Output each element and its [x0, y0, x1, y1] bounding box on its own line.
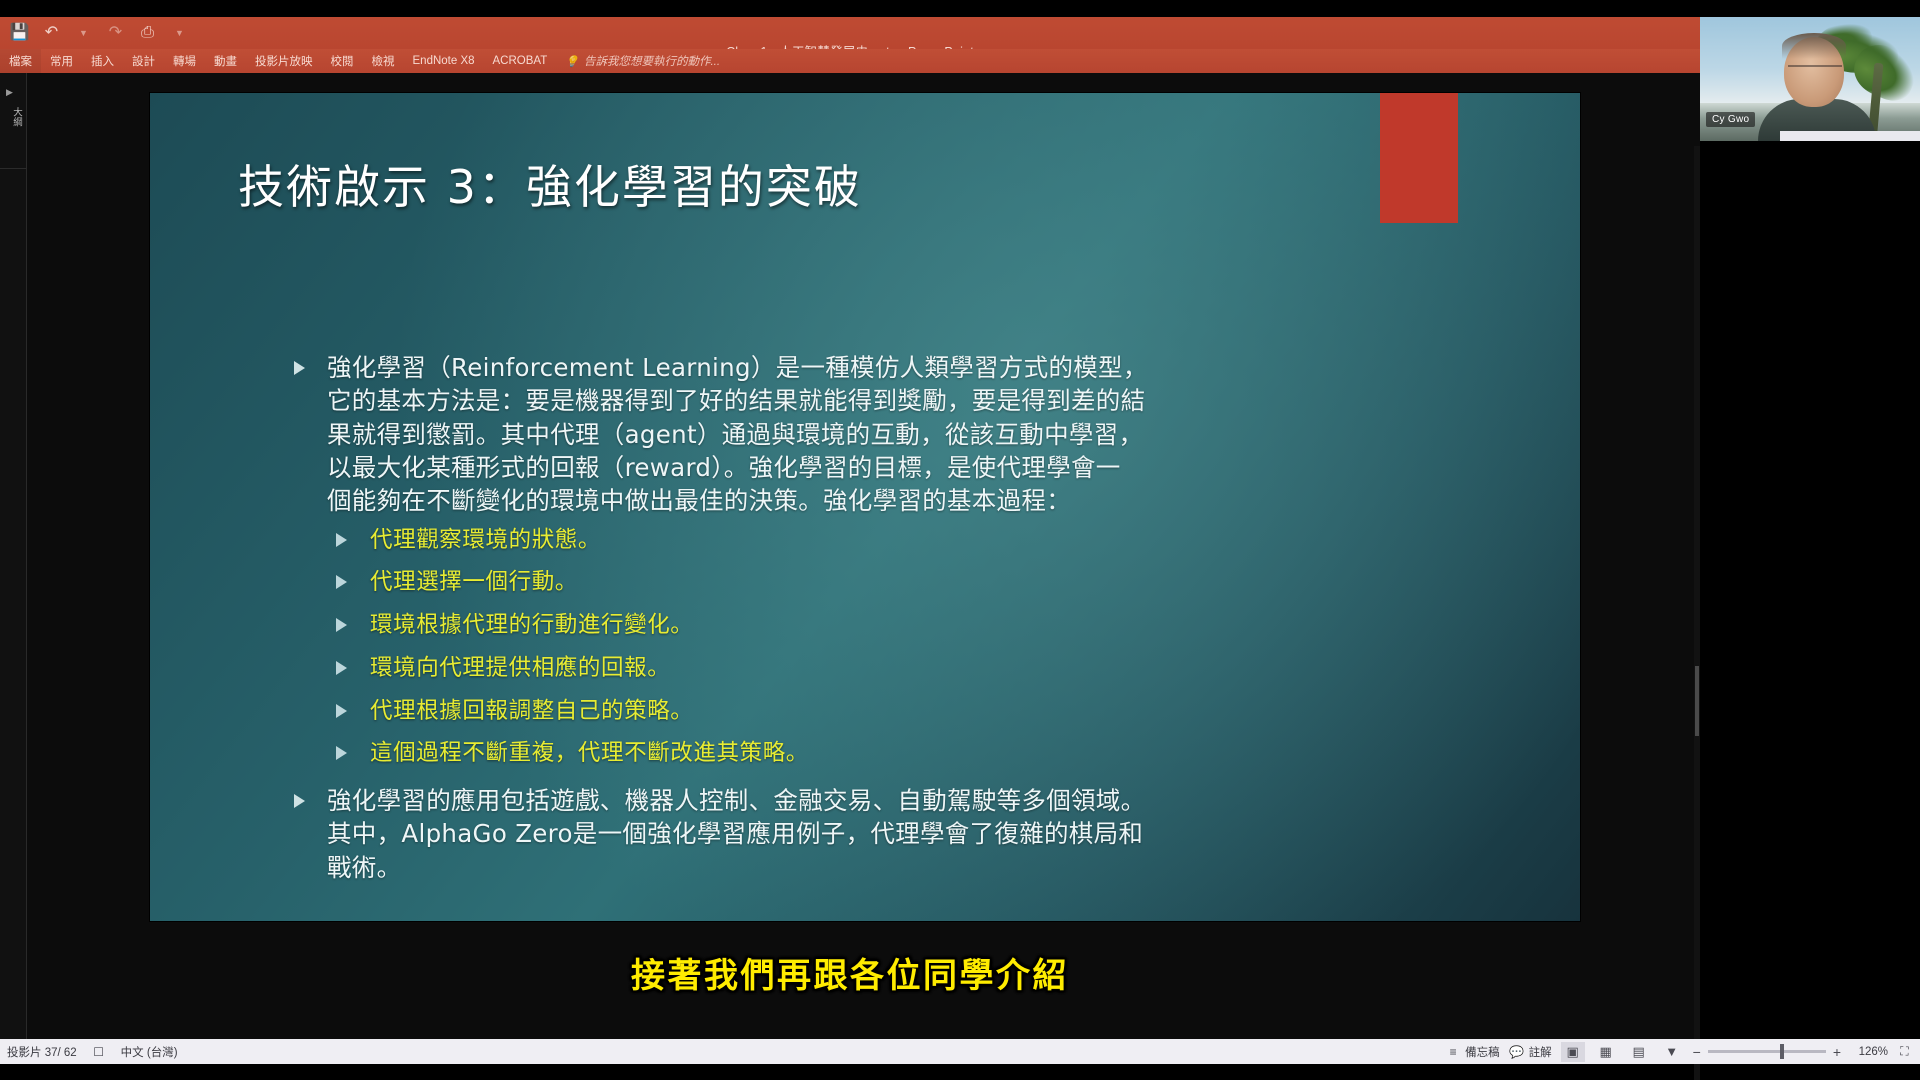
lightbulb-icon: 💡 [565, 55, 579, 68]
slide-counter[interactable]: 投影片 37/ 62 [7, 1044, 77, 1060]
sub-bullet-label: 代理觀察環境的狀態。 [370, 527, 601, 553]
comment-icon: 💬 [1509, 1044, 1525, 1059]
status-bar-right: ≡ 備忘稿 💬 註解 ▣ ▦ ▤ ▼ − [1445, 1042, 1920, 1062]
participant-name-badge: Cy Gwo [1706, 112, 1755, 127]
slide-sorter-icon: ▦ [1599, 1044, 1611, 1060]
sub-bullet-label: 這個過程不斷重複，代理不斷改進其策略。 [370, 740, 809, 766]
bullet-triangle-icon [336, 618, 347, 632]
tell-me-label: 告訴我您想要執行的動作... [584, 53, 720, 69]
start-slideshow-icon[interactable]: ⎙ [138, 24, 157, 43]
tab-slideshow[interactable]: 投影片放映 [246, 49, 322, 73]
bullet-level1: 強化學習的應用包括遊戲、機器人控制、金融交易、自動駕駛等多個領域。 其中，Alp… [290, 784, 1450, 884]
status-bar-left: 投影片 37/ 62 ☐ 中文 (台灣) [0, 1044, 178, 1060]
chevron-right-icon[interactable]: ▶ [6, 87, 13, 98]
quick-access-toolbar[interactable]: 💾 ↶ ▼ ↷ ⎙ ▼ [10, 18, 189, 48]
tab-transitions[interactable]: 轉場 [164, 49, 205, 73]
outline-pane-label: 大綱 [5, 107, 21, 127]
accessibility-check-icon[interactable]: ☐ [91, 1044, 107, 1059]
zoom-in-button[interactable]: + [1833, 1045, 1841, 1059]
sub-bullet-label: 環境向代理提供相應的回報。 [370, 655, 670, 681]
bullet-line: 它的基本方法是：要是機器得到了好的结果就能得到獎勵，要是得到差的結 [327, 384, 1450, 417]
redo-icon[interactable]: ↷ [106, 24, 125, 43]
sub-bullet-item: 環境向代理提供相應的回報。 [334, 656, 1450, 681]
view-slide-sorter[interactable]: ▦ [1594, 1042, 1618, 1062]
undo-dropdown-icon[interactable]: ▼ [74, 24, 93, 43]
screen-letterbox-right [1700, 141, 1920, 1039]
bullet-line: 以最大化某種形式的回報（reward）。強化學習的目標，是使代理學會一 [327, 451, 1450, 484]
sub-bullet-item: 代理根據回報調整自己的策略。 [334, 699, 1450, 724]
screen-letterbox-bottom [0, 1064, 1920, 1080]
tab-review[interactable]: 校閱 [322, 49, 363, 73]
bullet-line: 果就得到懲罰。其中代理（agent）通過與環境的互動，從該互動中學習， [327, 418, 1450, 451]
status-bar: 投影片 37/ 62 ☐ 中文 (台灣) ≡ 備忘稿 💬 註解 ▣ ▦ ▤ [0, 1039, 1920, 1064]
title-bar: Chap 1 - 人工智慧發展史.pptx - PowerPoint [0, 17, 1700, 49]
reading-view-icon: ▤ [1632, 1044, 1644, 1060]
scrollbar-thumb[interactable] [1695, 666, 1699, 736]
save-icon[interactable]: 💾 [10, 24, 29, 43]
slide-accent-bar [1380, 93, 1458, 223]
customize-qat-icon[interactable]: ▼ [170, 24, 189, 43]
tab-design[interactable]: 設計 [123, 49, 164, 73]
bullet-triangle-icon [336, 704, 347, 718]
editing-workspace: ▶ 大綱 技術啟示 3：強化學習的突破 強化學習（Reinforcement L… [0, 73, 1700, 1039]
slide-canvas[interactable]: 技術啟示 3：強化學習的突破 強化學習（Reinforcement Learni… [150, 93, 1580, 921]
slide-body-placeholder[interactable]: 強化學習（Reinforcement Learning）是一種模仿人類學習方式的… [290, 351, 1450, 890]
tab-acrobat[interactable]: ACROBAT [484, 49, 557, 73]
webcam-person-hair [1782, 33, 1846, 59]
bullet-triangle-icon [336, 661, 347, 675]
zoom-track[interactable] [1708, 1050, 1826, 1053]
sub-bullet-item: 這個過程不斷重複，代理不斷改進其策略。 [334, 741, 1450, 766]
notes-label: 備忘稿 [1465, 1044, 1500, 1060]
glasses-icon [1788, 65, 1842, 75]
slide-title[interactable]: 技術啟示 3：強化學習的突破 [238, 151, 862, 217]
bullet-line: 強化學習的應用包括遊戲、機器人控制、金融交易、自動駕駛等多個領域。 [327, 784, 1450, 817]
sub-bullet-item: 代理觀察環境的狀態。 [334, 528, 1450, 553]
zoom-slider[interactable]: − + [1693, 1045, 1841, 1059]
bullet-triangle-icon [336, 533, 347, 547]
view-reading[interactable]: ▤ [1627, 1042, 1651, 1062]
bullet-line: 強化學習（Reinforcement Learning）是一種模仿人類學習方式的… [327, 351, 1450, 384]
sub-bullet-item: 代理選擇一個行動。 [334, 570, 1450, 595]
bullet-triangle-icon [294, 794, 305, 808]
fit-slide-icon[interactable]: ⛶ [1897, 1044, 1912, 1059]
tab-view[interactable]: 檢視 [363, 49, 404, 73]
view-slideshow[interactable]: ▼ [1660, 1042, 1684, 1062]
bullet-triangle-icon [294, 361, 305, 375]
notes-icon: ≡ [1445, 1044, 1461, 1059]
view-normal[interactable]: ▣ [1561, 1042, 1585, 1062]
tab-animations[interactable]: 動畫 [205, 49, 246, 73]
ribbon-tab-bar: 檔案 常用 插入 設計 轉場 動畫 投影片放映 校閱 檢視 EndNote X8… [0, 49, 1700, 73]
bullet-line: 其中，AlphaGo Zero是一個強化學習應用例子，代理學會了復雜的棋局和 [327, 817, 1450, 850]
sub-bullet-label: 代理根據回報調整自己的策略。 [370, 698, 693, 724]
bullet-line: 戰術。 [327, 851, 1450, 884]
tab-file[interactable]: 檔案 [0, 49, 41, 73]
sub-bullet-list: 代理觀察環境的狀態。 代理選擇一個行動。 環境根據代理的行動進行變化。 環境向代… [334, 528, 1450, 767]
comments-button[interactable]: 💬 註解 [1509, 1044, 1552, 1060]
tab-endnote[interactable]: EndNote X8 [404, 49, 484, 73]
outline-thumbnail-pane[interactable]: ▶ 大綱 [0, 73, 27, 1039]
bullet-level1: 強化學習（Reinforcement Learning）是一種模仿人類學習方式的… [290, 351, 1450, 518]
powerpoint-window: Chap 1 - 人工智慧發展史.pptx - PowerPoint 💾 ↶ ▼… [0, 0, 1920, 1080]
undo-icon[interactable]: ↶ [42, 24, 61, 43]
bullet-triangle-icon [336, 746, 347, 760]
normal-view-icon: ▣ [1566, 1044, 1578, 1060]
comments-label: 註解 [1529, 1044, 1552, 1060]
language-indicator[interactable]: 中文 (台灣) [121, 1044, 178, 1060]
tab-home[interactable]: 常用 [41, 49, 82, 73]
zoom-handle[interactable] [1780, 1044, 1784, 1059]
slideshow-view-icon: ▼ [1665, 1044, 1678, 1059]
webcam-bottom-strip [1780, 131, 1920, 141]
tab-insert[interactable]: 插入 [82, 49, 123, 73]
zoom-level-label[interactable]: 126% [1850, 1046, 1888, 1058]
video-caption: 接著我們再跟各位同學介紹 [0, 948, 1700, 997]
screen-letterbox-top [0, 0, 1920, 17]
bullet-triangle-icon [336, 575, 347, 589]
sub-bullet-label: 環境根據代理的行動進行變化。 [370, 612, 693, 638]
zoom-out-button[interactable]: − [1693, 1045, 1701, 1059]
sub-bullet-label: 代理選擇一個行動。 [370, 569, 578, 595]
bullet-line: 個能夠在不斷變化的環境中做出最佳的決策。強化學習的基本過程： [327, 484, 1450, 517]
sub-bullet-item: 環境根據代理的行動進行變化。 [334, 613, 1450, 638]
tell-me-search[interactable]: 💡 告訴我您想要執行的動作... [556, 49, 729, 73]
webcam-overlay[interactable]: Cy Gwo [1700, 17, 1920, 141]
notes-button[interactable]: ≡ 備忘稿 [1445, 1044, 1500, 1060]
pane-divider [0, 168, 27, 169]
